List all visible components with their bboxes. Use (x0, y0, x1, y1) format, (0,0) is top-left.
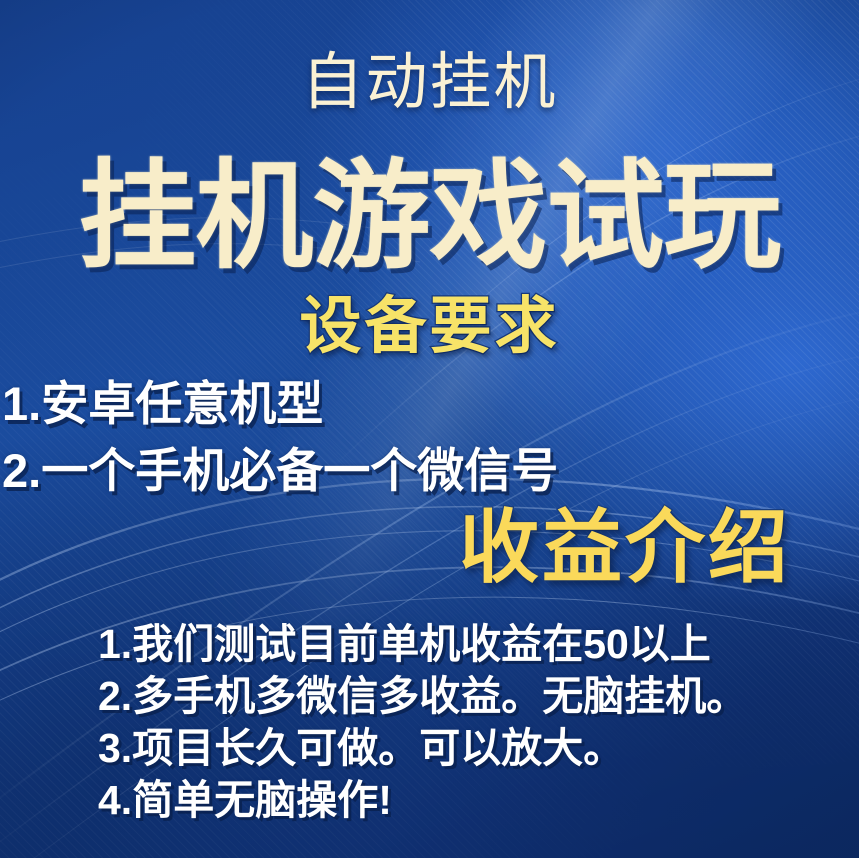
income-point-item: 1.我们测试目前单机收益在50以上 (98, 624, 711, 665)
device-section-heading: 设备要求 (0, 296, 859, 358)
income-point-item: 3.项目长久可做。可以放大。 (98, 728, 624, 769)
income-point-item: 2.多手机多微信多收益。无脑挂机。 (98, 676, 747, 717)
device-requirement-item: 2.一个手机必备一个微信号 (2, 447, 558, 494)
main-headline: 挂机游戏试玩 (0, 158, 859, 276)
promo-poster: 自动挂机 挂机游戏试玩 设备要求 1.安卓任意机型 2.一个手机必备一个微信号 … (0, 0, 859, 858)
device-requirement-item: 1.安卓任意机型 (2, 380, 323, 427)
kicker-title: 自动挂机 (0, 52, 859, 114)
income-section-heading: 收益介绍 (459, 508, 791, 588)
income-point-item: 4.简单无脑操作! (98, 780, 392, 821)
